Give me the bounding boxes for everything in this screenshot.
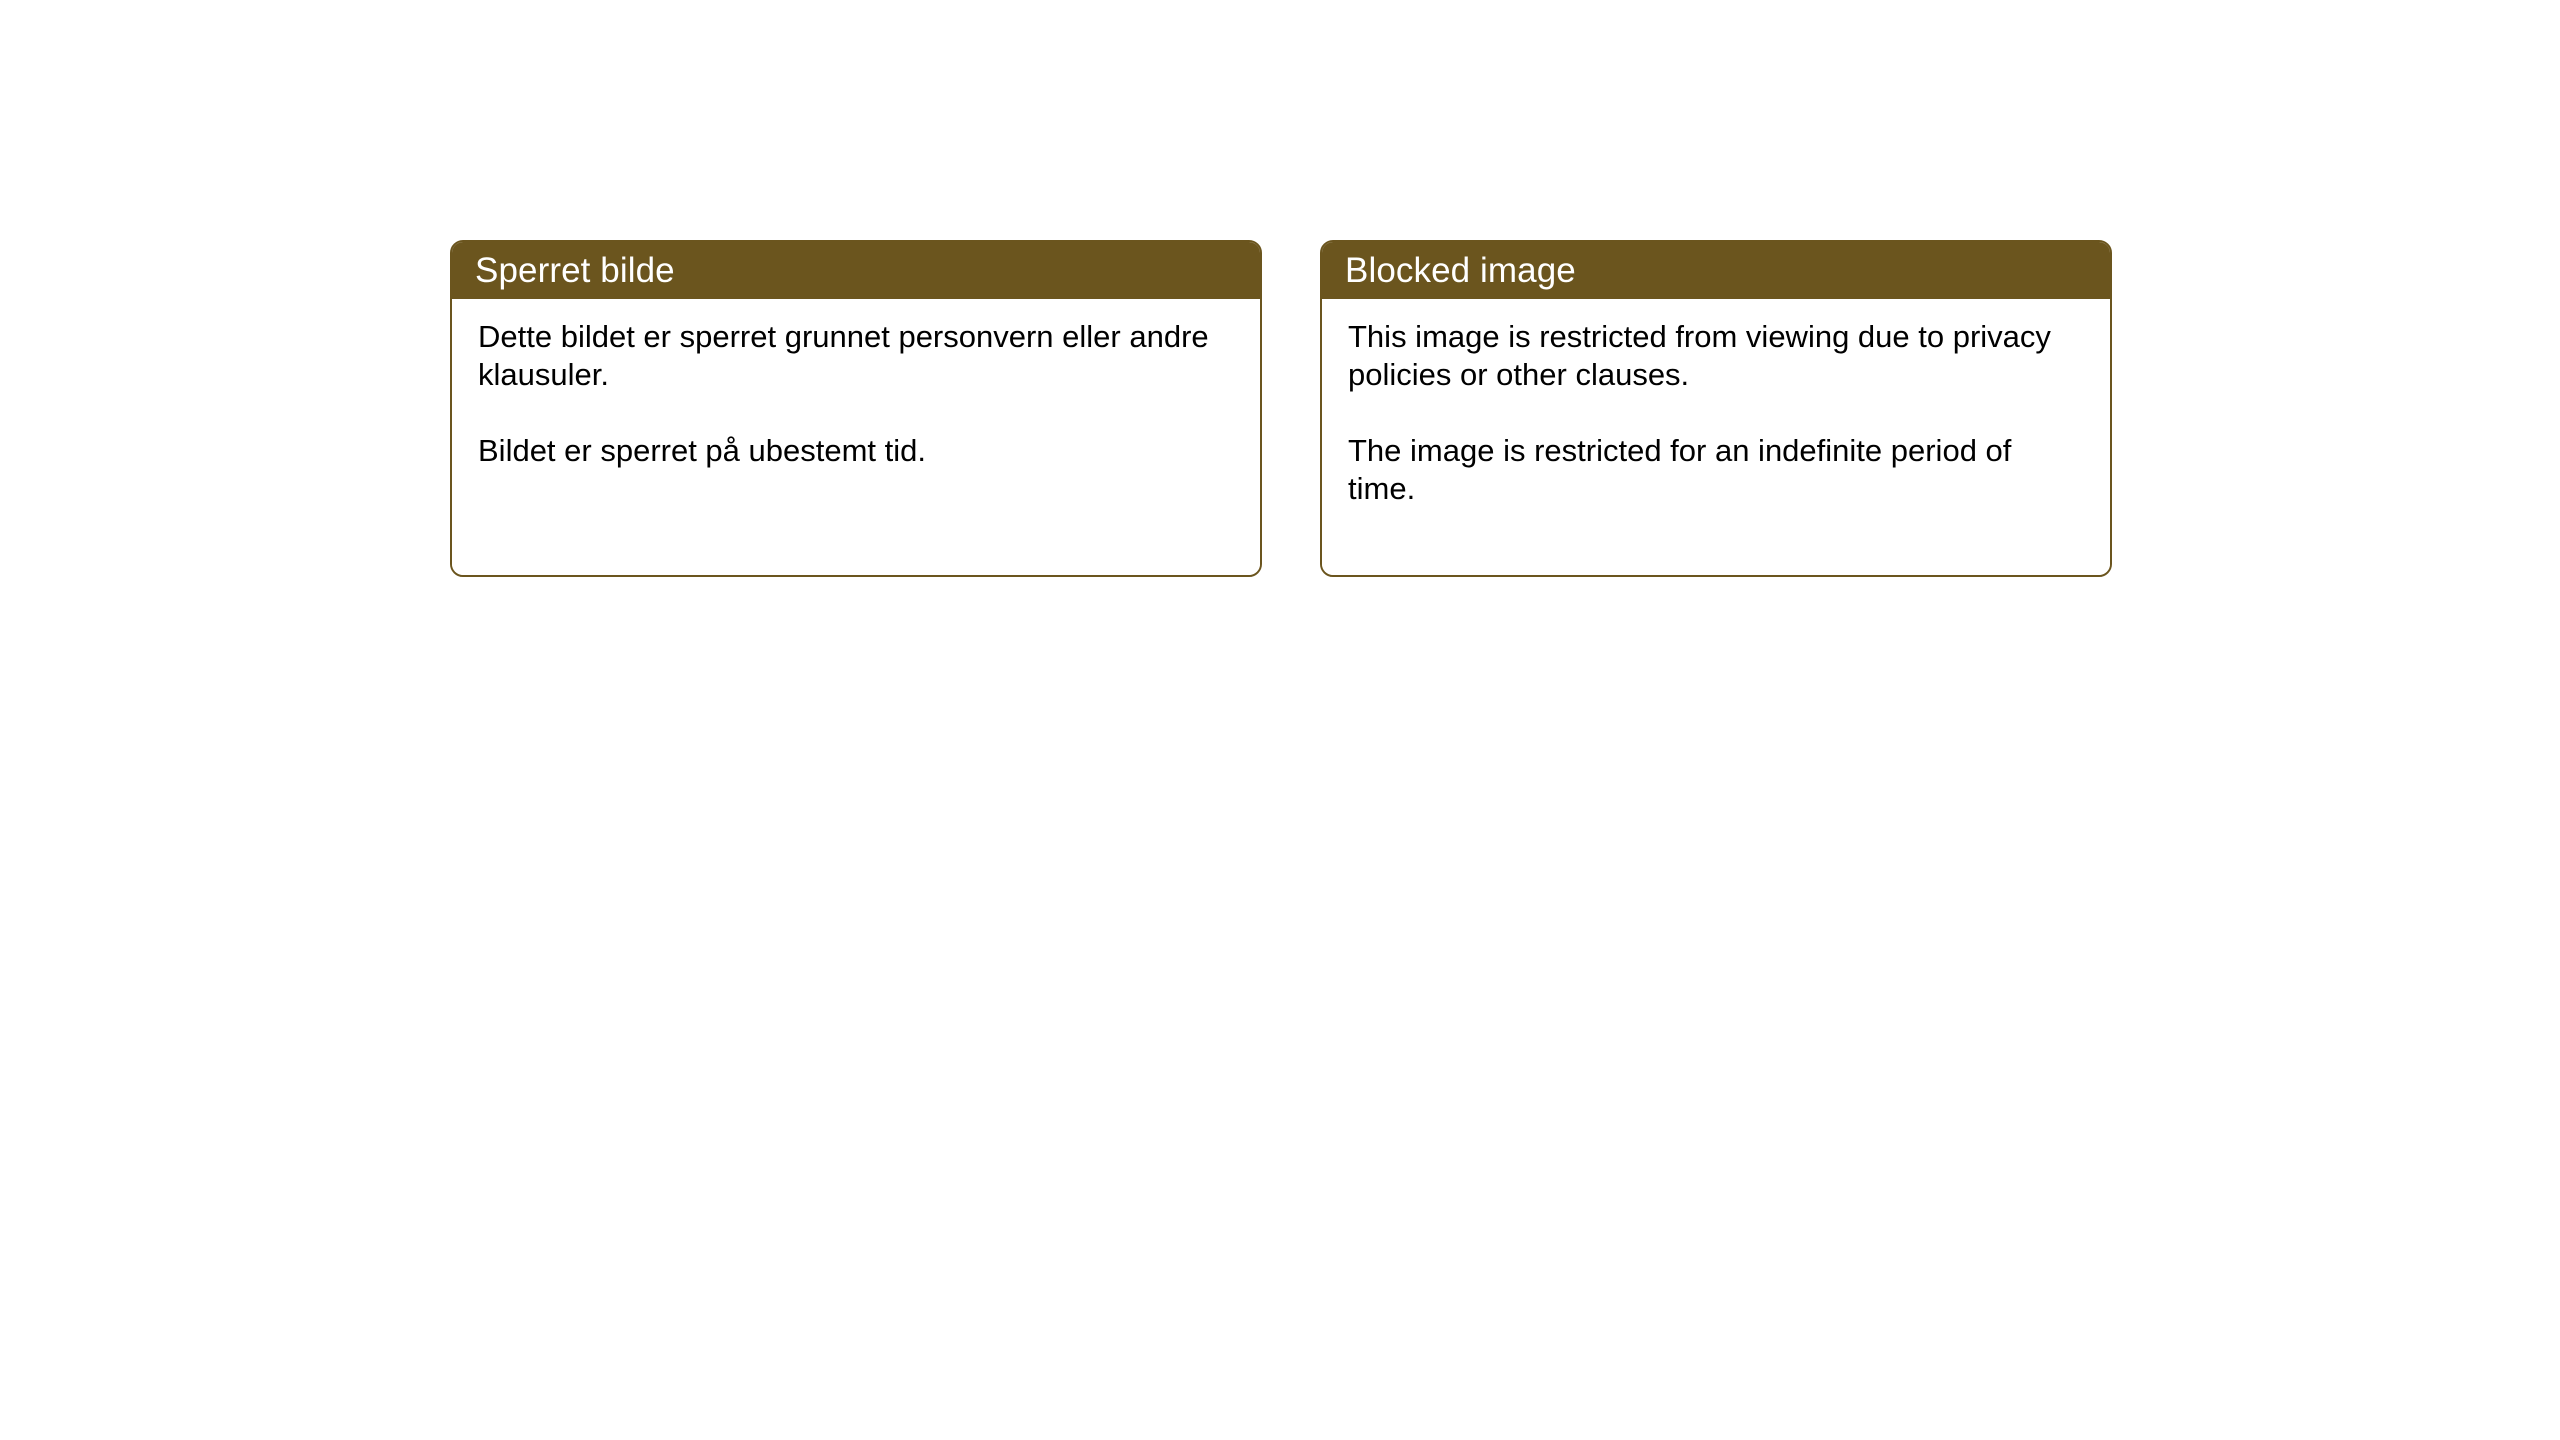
card-body-english: This image is restricted from viewing du… (1322, 299, 2110, 575)
card-paragraph-duration-norwegian: Bildet er sperret på ubestemt tid. (478, 432, 1236, 470)
card-title-norwegian: Sperret bilde (475, 253, 675, 288)
card-paragraph-reason-norwegian: Dette bildet er sperret grunnet personve… (478, 318, 1236, 394)
card-paragraph-duration-english: The image is restricted for an indefinit… (1348, 432, 2086, 508)
card-header-english: Blocked image (1321, 241, 2111, 299)
blocked-image-card-norwegian: Sperret bilde Dette bildet er sperret gr… (450, 240, 1262, 577)
card-body-norwegian: Dette bildet er sperret grunnet personve… (452, 299, 1260, 575)
card-paragraph-reason-english: This image is restricted from viewing du… (1348, 318, 2086, 394)
blocked-image-card-english: Blocked image This image is restricted f… (1320, 240, 2112, 577)
blocked-image-notice-group: Sperret bilde Dette bildet er sperret gr… (450, 240, 2112, 577)
card-header-norwegian: Sperret bilde (451, 241, 1261, 299)
card-title-english: Blocked image (1345, 253, 1576, 288)
